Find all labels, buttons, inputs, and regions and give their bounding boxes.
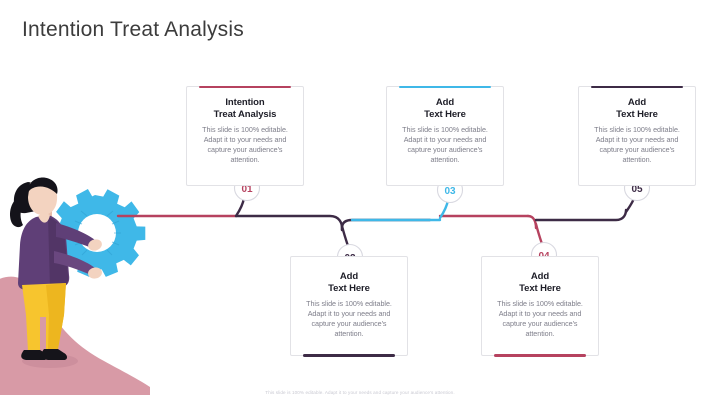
content-card-02[interactable]: Add Text Here This slide is 100% editabl… (290, 256, 408, 356)
content-card-04[interactable]: Add Text Here This slide is 100% editabl… (481, 256, 599, 356)
card-title-01: Intention Treat Analysis (195, 97, 295, 121)
content-card-01[interactable]: Intention Treat Analysis This slide is 1… (186, 86, 304, 186)
card-accent-bar-05 (591, 86, 683, 89)
card-title-line1-05: Add (587, 97, 687, 109)
card-title-line2-02: Text Here (299, 283, 399, 295)
slide-canvas: Intention Treat Analysis (0, 0, 720, 404)
card-title-line1-04: Add (490, 271, 590, 283)
card-title-line1-01: Intention (195, 97, 295, 109)
timeline-segment-2 (236, 216, 342, 230)
card-accent-bar-03 (399, 86, 491, 89)
timeline-segment-5 (536, 210, 626, 220)
marker-tail-02 (342, 226, 348, 246)
content-card-03[interactable]: Add Text Here This slide is 100% editabl… (386, 86, 504, 186)
card-body-03: This slide is 100% editable. Adapt it to… (395, 125, 495, 165)
card-accent-bar-01 (199, 86, 291, 89)
card-accent-bar-02 (303, 354, 395, 357)
timeline-segment-2b (342, 220, 430, 230)
card-title-line2-05: Text Here (587, 109, 687, 121)
card-title-line2-01: Treat Analysis (195, 109, 295, 121)
marker-label-03: 03 (444, 186, 456, 197)
card-body-02: This slide is 100% editable. Adapt it to… (299, 299, 399, 339)
marker-tail-01 (236, 198, 244, 216)
page-title: Intention Treat Analysis (22, 18, 244, 42)
card-title-line1-02: Add (299, 271, 399, 283)
card-title-02: Add Text Here (299, 271, 399, 295)
card-title-05: Add Text Here (587, 97, 687, 121)
card-title-line1-03: Add (395, 97, 495, 109)
marker-tail-04 (536, 224, 542, 244)
card-body-01: This slide is 100% editable. Adapt it to… (195, 125, 295, 165)
content-card-05[interactable]: Add Text Here This slide is 100% editabl… (578, 86, 696, 186)
card-title-04: Add Text Here (490, 271, 590, 295)
card-body-04: This slide is 100% editable. Adapt it to… (490, 299, 590, 339)
card-body-05: This slide is 100% editable. Adapt it to… (587, 125, 687, 165)
card-accent-bar-04 (494, 354, 586, 357)
timeline-segment-4b (528, 216, 536, 228)
card-title-03: Add Text Here (395, 97, 495, 121)
footer-note: This slide is 100% editable. Adapt it to… (0, 390, 720, 395)
card-title-line2-03: Text Here (395, 109, 495, 121)
card-title-line2-04: Text Here (490, 283, 590, 295)
